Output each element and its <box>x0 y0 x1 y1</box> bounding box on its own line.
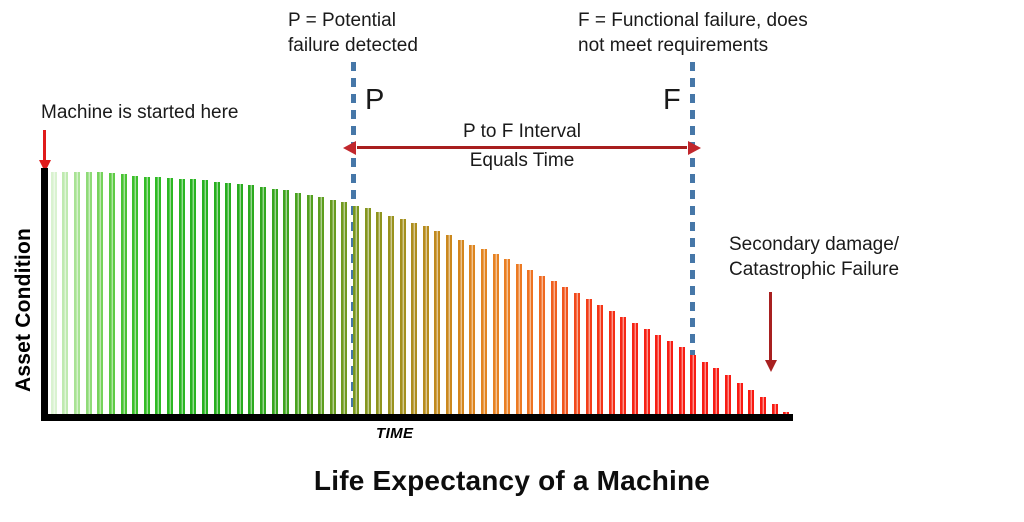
bar <box>272 189 278 414</box>
bar <box>504 259 510 414</box>
bar <box>527 270 533 414</box>
bar <box>190 179 196 414</box>
bar <box>737 383 743 414</box>
bar <box>62 172 68 414</box>
bar <box>702 362 708 414</box>
bar <box>586 299 592 414</box>
bar <box>434 231 440 414</box>
machine-start-arrow-icon <box>43 130 46 172</box>
bar <box>330 200 336 414</box>
y-axis-line <box>41 168 48 420</box>
bar <box>97 172 103 414</box>
bar <box>132 176 138 414</box>
bar <box>713 368 719 414</box>
bar <box>655 335 661 414</box>
p-marker-label: P <box>365 86 384 115</box>
bar <box>74 172 80 414</box>
potential-failure-marker-line <box>351 62 356 418</box>
diagram-canvas: P = Potential failure detected F = Funct… <box>0 0 1024 522</box>
bar <box>574 293 580 414</box>
bar <box>469 245 475 414</box>
catastrophic-failure-arrow-icon <box>769 292 772 372</box>
bar <box>155 177 161 414</box>
bar <box>458 240 464 414</box>
bar <box>551 281 557 414</box>
bar <box>516 264 522 414</box>
pf-interval-label-line1: P to F Interval <box>351 119 693 144</box>
functional-failure-marker-line <box>690 62 695 356</box>
bar <box>423 226 429 414</box>
secondary-damage-note: Secondary damage/ Catastrophic Failure <box>729 232 979 282</box>
bar <box>260 187 266 414</box>
bar <box>376 212 382 414</box>
p-definition-note: P = Potential failure detected <box>288 8 518 58</box>
y-axis-title: Asset Condition <box>12 228 36 392</box>
bar <box>539 276 545 414</box>
bar <box>597 305 603 414</box>
bar <box>86 172 92 414</box>
bar <box>644 329 650 414</box>
bar <box>202 180 208 414</box>
pf-interval-label-line2: Equals Time <box>351 148 693 173</box>
bar <box>667 341 673 414</box>
bar <box>307 195 313 414</box>
bar <box>121 174 127 414</box>
arrow-shaft <box>769 292 772 361</box>
x-axis-title: TIME <box>376 425 413 442</box>
bar <box>109 173 115 414</box>
bar <box>562 287 568 414</box>
arrow-shaft <box>43 130 46 161</box>
bar <box>760 397 766 414</box>
bar <box>679 347 685 414</box>
chart-title: Life Expectancy of a Machine <box>0 465 1024 497</box>
bar <box>388 216 394 414</box>
bar <box>493 254 499 414</box>
bar <box>411 223 417 414</box>
bar <box>341 202 347 414</box>
bar <box>225 183 231 414</box>
bar <box>772 404 778 414</box>
bar <box>481 249 487 414</box>
bar <box>51 172 57 414</box>
bar <box>400 219 406 414</box>
bar <box>283 190 289 414</box>
bar <box>748 390 754 414</box>
bar <box>632 323 638 414</box>
bar <box>167 178 173 414</box>
bar <box>295 193 301 414</box>
bar <box>214 182 220 414</box>
bar <box>446 235 452 414</box>
machine-started-note: Machine is started here <box>41 100 301 125</box>
bar <box>620 317 626 414</box>
bar <box>248 185 254 414</box>
bar <box>144 177 150 414</box>
bar <box>690 355 696 414</box>
arrow-head <box>765 360 777 372</box>
f-marker-label: F <box>663 86 681 115</box>
bar <box>609 311 615 414</box>
f-definition-note: F = Functional failure, does not meet re… <box>578 8 878 58</box>
bar <box>179 179 185 414</box>
x-axis-line <box>41 414 793 421</box>
bar <box>237 184 243 414</box>
bar <box>725 375 731 414</box>
bar <box>365 208 371 414</box>
bar <box>318 197 324 414</box>
